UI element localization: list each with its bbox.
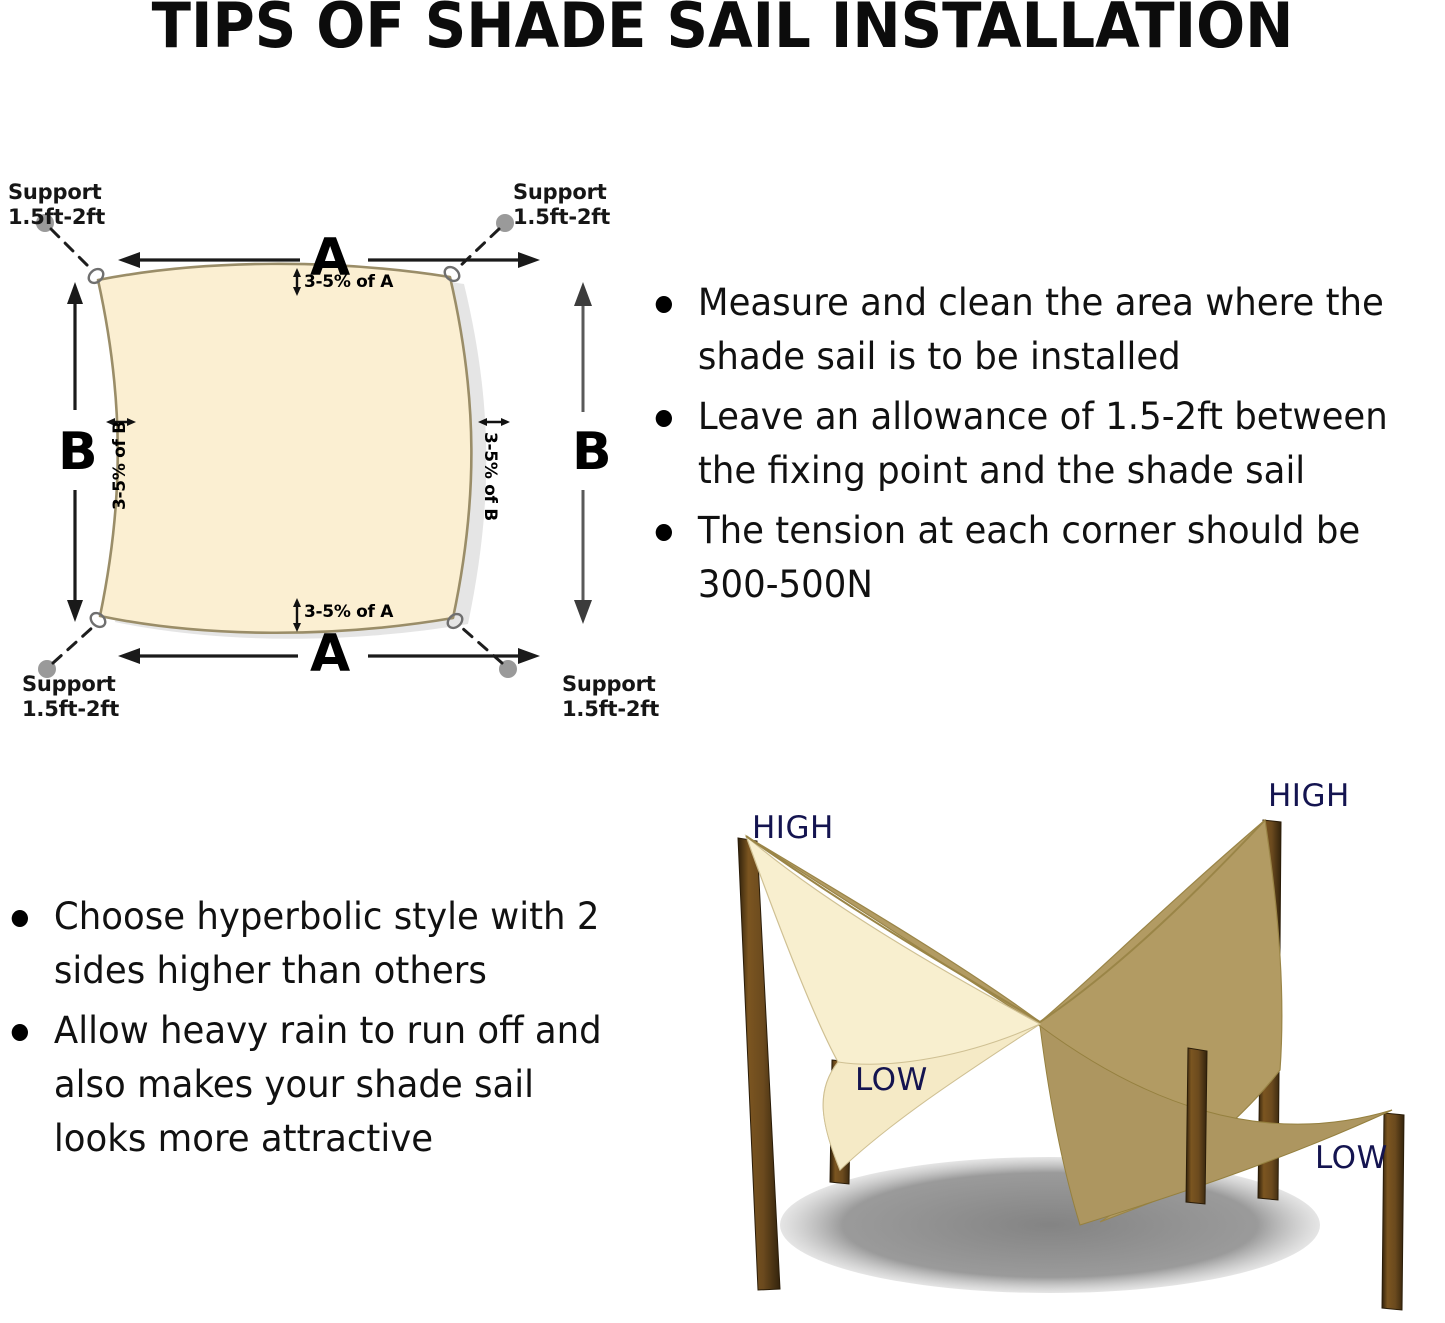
- curve-label-top-a: 3-5% of A: [304, 272, 393, 292]
- curve-label-bottom-a: 3-5% of A: [304, 602, 393, 622]
- list-item: Leave an allowance of 1.5-2ft between th…: [648, 390, 1416, 498]
- rectangular-sail-diagram: Support1.5ft-2ft Support1.5ft-2ft Suppor…: [0, 150, 660, 740]
- post-front-right: [1186, 1048, 1207, 1204]
- support-label-top-left: Support1.5ft-2ft: [8, 180, 105, 230]
- post-label-low-right: LOW: [1315, 1140, 1388, 1176]
- hyperbolic-sail-illustration: HIGH HIGH LOW LOW: [640, 770, 1445, 1319]
- sail-body: [98, 264, 471, 633]
- list-item: Measure and clean the area where the sha…: [648, 276, 1416, 384]
- list-item: The tension at each corner should be 300…: [648, 504, 1416, 612]
- dimension-letter-bottom-a: A: [310, 628, 350, 680]
- page-title: TIPS OF SHADE SAIL INSTALLATION: [51, 0, 1395, 57]
- post-label-low-left: LOW: [855, 1062, 928, 1098]
- hyperbolic-sail-svg: [640, 770, 1445, 1319]
- installation-tips-list-right: Measure and clean the area where the sha…: [648, 276, 1445, 618]
- installation-tips-list-left: Choose hyperbolic style with 2 sides hig…: [4, 890, 629, 1172]
- post-label-high-left: HIGH: [752, 810, 834, 846]
- list-item: Choose hyperbolic style with 2 sides hig…: [4, 890, 604, 998]
- dimension-letter-right-b: B: [572, 426, 612, 478]
- support-label-top-right: Support1.5ft-2ft: [513, 180, 610, 230]
- curve-label-left-b: 3-5% of B: [110, 421, 130, 510]
- curve-label-right-b: 3-5% of B: [480, 432, 500, 521]
- dimension-letter-left-b: B: [58, 426, 98, 478]
- ground-shadow: [780, 1157, 1320, 1293]
- support-label-bottom-left: Support1.5ft-2ft: [22, 672, 119, 722]
- support-label-bottom-right: Support1.5ft-2ft: [562, 672, 659, 722]
- list-item: Allow heavy rain to run off and also mak…: [4, 1004, 604, 1166]
- post-label-high-right: HIGH: [1268, 778, 1350, 814]
